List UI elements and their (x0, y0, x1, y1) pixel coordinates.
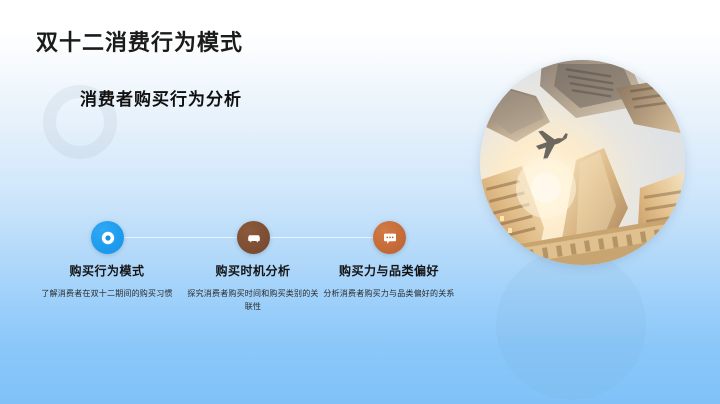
item-title-2: 购买时机分析 (183, 262, 323, 279)
presentation-slide: 双十二消费行为模式 消费者购买行为分析 (0, 0, 720, 404)
item-desc-3: 分析消费者购买力与品类偏好的关系 (321, 287, 457, 300)
item-title-3: 购买力与品类偏好 (319, 262, 459, 279)
timeline-bullet-1[interactable] (91, 221, 124, 254)
hero-photo-city-skyscrapers (480, 60, 685, 265)
slide-subtitle: 消费者购买行为分析 (80, 85, 242, 110)
timeline-bullet-3[interactable] (373, 221, 406, 254)
item-desc-1: 了解消费者在双十二期间的购买习惯 (39, 287, 175, 300)
decorative-circle-right (496, 250, 646, 400)
ring-circle-icon (100, 230, 116, 246)
sofa-icon (246, 230, 262, 246)
slide-title: 双十二消费行为模式 (36, 25, 243, 57)
speech-bubble-icon (382, 230, 398, 246)
timeline-bullet-2[interactable] (237, 221, 270, 254)
connector-line-2 (266, 237, 374, 238)
connector-line-1 (120, 237, 242, 238)
item-desc-2: 探究消费者购买时间和购买类别的关联性 (185, 287, 321, 313)
item-title-1: 购买行为模式 (37, 262, 177, 279)
